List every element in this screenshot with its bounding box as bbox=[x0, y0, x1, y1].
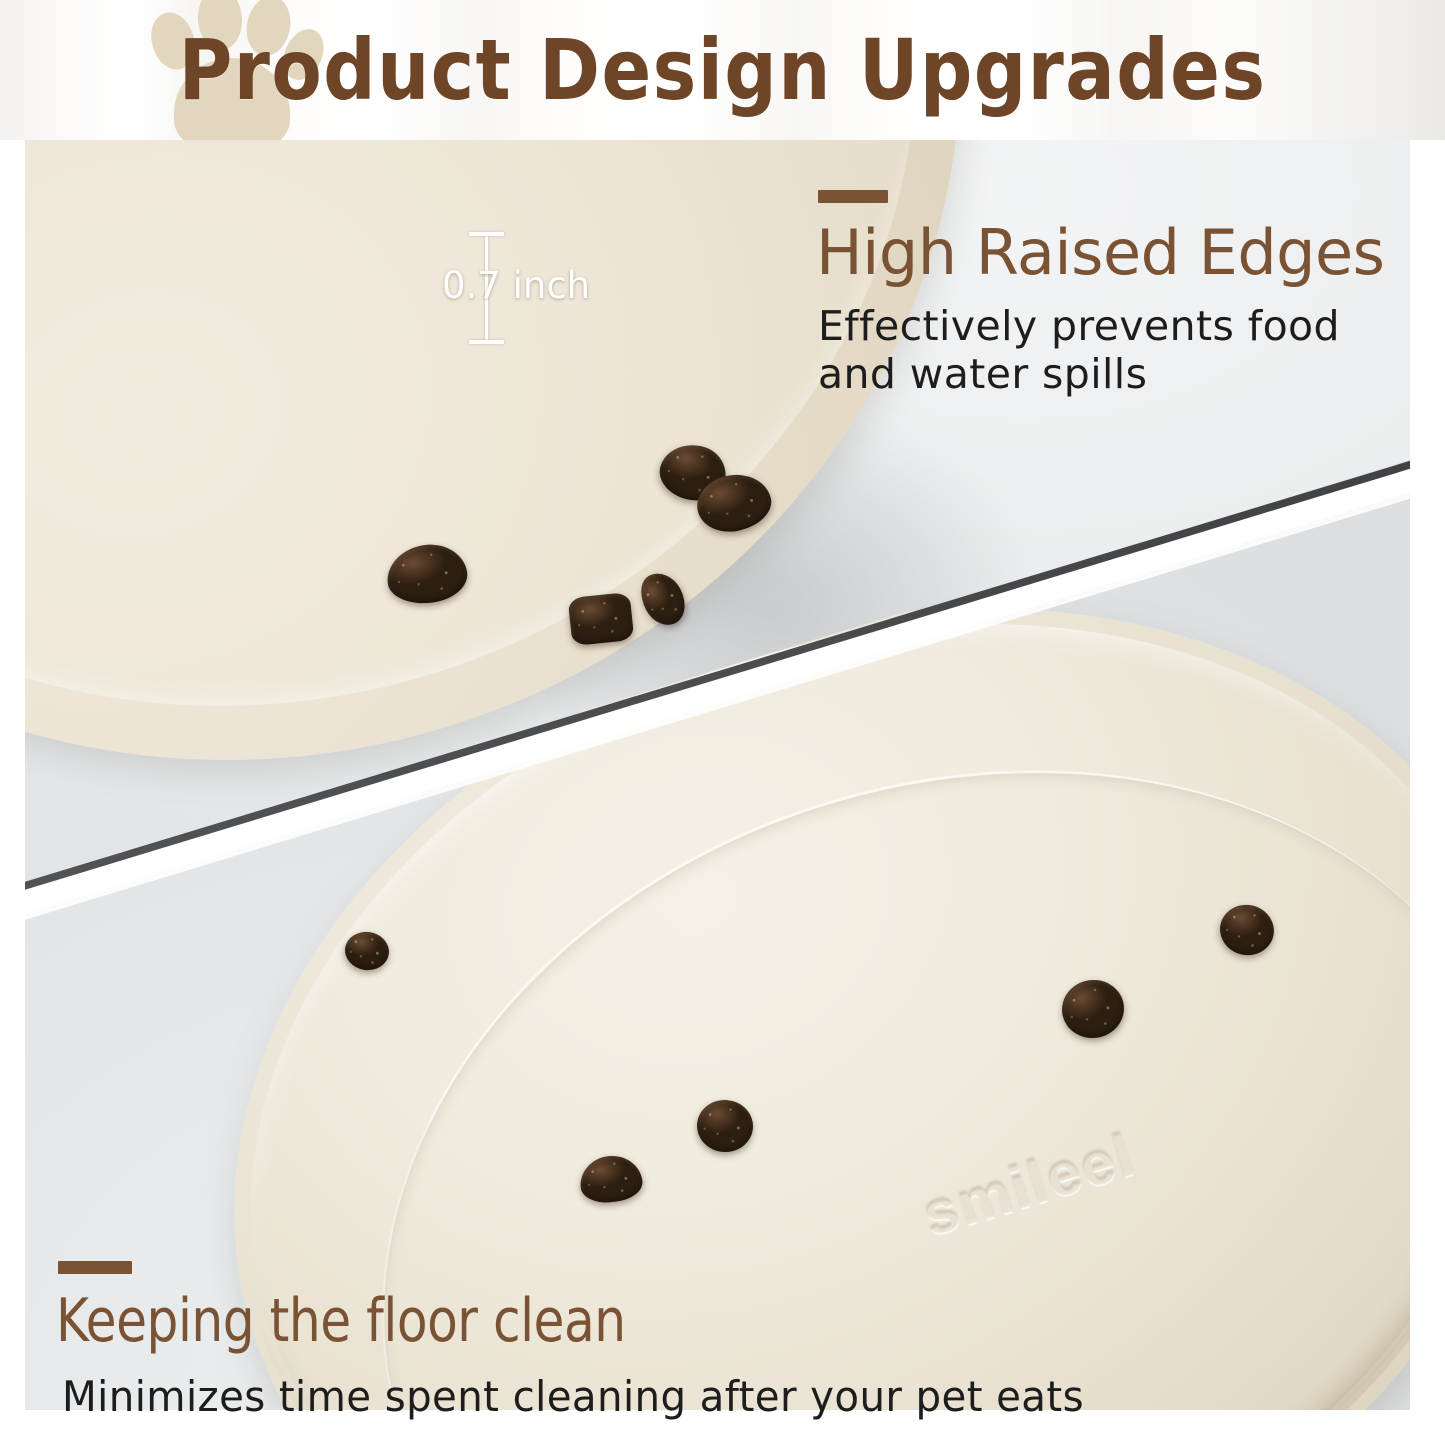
page-title: Product Design Upgrades bbox=[22, 0, 1424, 140]
feature-accent-dash bbox=[58, 1261, 132, 1274]
feature-heading-keeping-floor-clean: Keeping the floor clean bbox=[56, 1286, 626, 1356]
infographic-page: Product Design Upgrades smileel bbox=[0, 0, 1445, 1445]
feature-heading-high-raised-edges: High Raised Edges bbox=[816, 216, 1384, 289]
feature-body-high-raised-edges: Effectively prevents food and water spil… bbox=[818, 302, 1418, 399]
kibble-piece bbox=[568, 592, 635, 646]
header-band: Product Design Upgrades bbox=[0, 0, 1445, 140]
feature-body-keeping-floor-clean: Minimizes time spent cleaning after your… bbox=[62, 1372, 1084, 1422]
feature-accent-dash bbox=[818, 190, 888, 203]
